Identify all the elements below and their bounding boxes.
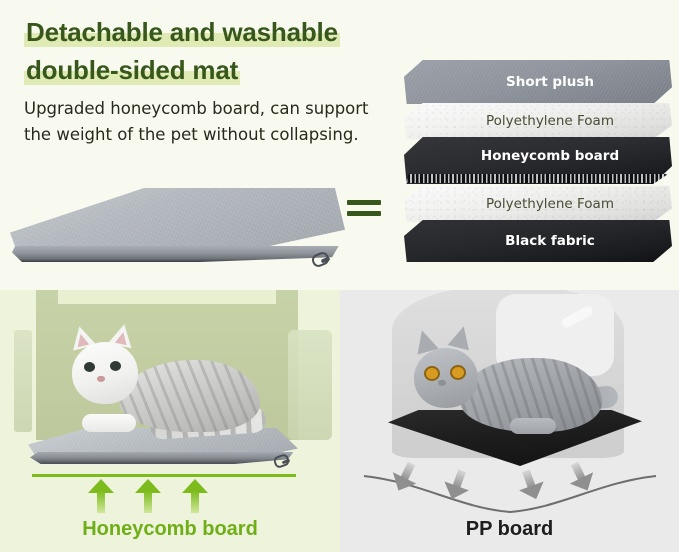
zipper-pull-icon [312, 251, 334, 267]
comparison-panel-right: PP board [340, 290, 679, 552]
product-mat-image [10, 188, 345, 280]
layer-label-4: Black fabric [505, 233, 595, 249]
white-cat-ear-inner-right [115, 331, 129, 345]
honeycomb-mat-edge [30, 452, 296, 464]
arrow-up-icon-3 [182, 479, 208, 513]
layer-short-plush: Short plush [404, 60, 672, 104]
arrow-up-icon-2 [135, 479, 161, 513]
headline-text-2: double-sided mat [26, 55, 238, 85]
honeycomb-mat-zipper-icon [274, 454, 294, 468]
comparison-section: Honeycomb board [0, 290, 679, 552]
white-cat-nose [97, 376, 105, 382]
grey-cat-eye-right [450, 365, 466, 380]
grey-cat-nose [438, 380, 446, 386]
arrow-up-icon-1 [88, 479, 114, 513]
headline-text-1: Detachable and washable [26, 17, 338, 47]
white-cat-eye-left [84, 362, 95, 372]
grey-cat-paw [510, 418, 556, 434]
white-cat-paw [82, 414, 136, 432]
layer-label-1: Polyethylene Foam [486, 113, 614, 129]
comparison-panel-left: Honeycomb board [0, 290, 340, 552]
headline-line-1: Detachable and washable [24, 14, 340, 50]
support-guide-line [32, 474, 296, 477]
caption-honeycomb-board: Honeycomb board [0, 518, 340, 541]
top-section: Detachable and washable double-sided mat… [0, 0, 679, 290]
honeycomb-flute-edge-icon [406, 174, 668, 183]
subtitle-text: Upgraded honeycomb board, can support th… [24, 96, 394, 148]
layer-polyethylene-foam-top: Polyethylene Foam [404, 103, 672, 139]
mat-front-edge [12, 246, 342, 262]
layer-black-fabric: Black fabric [404, 220, 672, 262]
white-cat-head [72, 342, 138, 404]
caption-pp-board: PP board [340, 518, 679, 541]
layer-label-2: Honeycomb board [481, 148, 619, 164]
layer-label-0: Short plush [506, 74, 594, 90]
mat-body [10, 188, 345, 274]
layer-polyethylene-foam-bottom: Polyethylene Foam [404, 186, 672, 222]
grey-cat-ear-right [448, 324, 475, 351]
cat-house-left-opening [58, 290, 276, 304]
cat-house-right-post [288, 330, 332, 440]
equals-sign-icon [347, 197, 383, 221]
layer-honeycomb-board: Honeycomb board [404, 137, 672, 184]
white-cat-body [120, 360, 260, 432]
grey-cat-head [414, 348, 478, 408]
layer-label-3: Polyethylene Foam [486, 196, 614, 212]
white-cat-image [58, 318, 268, 443]
headline-line-2: double-sided mat [24, 52, 240, 88]
cat-house-left-post [14, 330, 32, 432]
white-cat-eye-right [110, 361, 121, 371]
grey-cat-eye-left [424, 366, 440, 381]
infographic-page: Detachable and washable double-sided mat… [0, 0, 679, 552]
headline: Detachable and washable double-sided mat [24, 14, 404, 88]
layer-stack-diagram: Short plush Polyethylene Foam Honeycomb … [404, 60, 672, 275]
grey-cat-image [402, 326, 618, 444]
